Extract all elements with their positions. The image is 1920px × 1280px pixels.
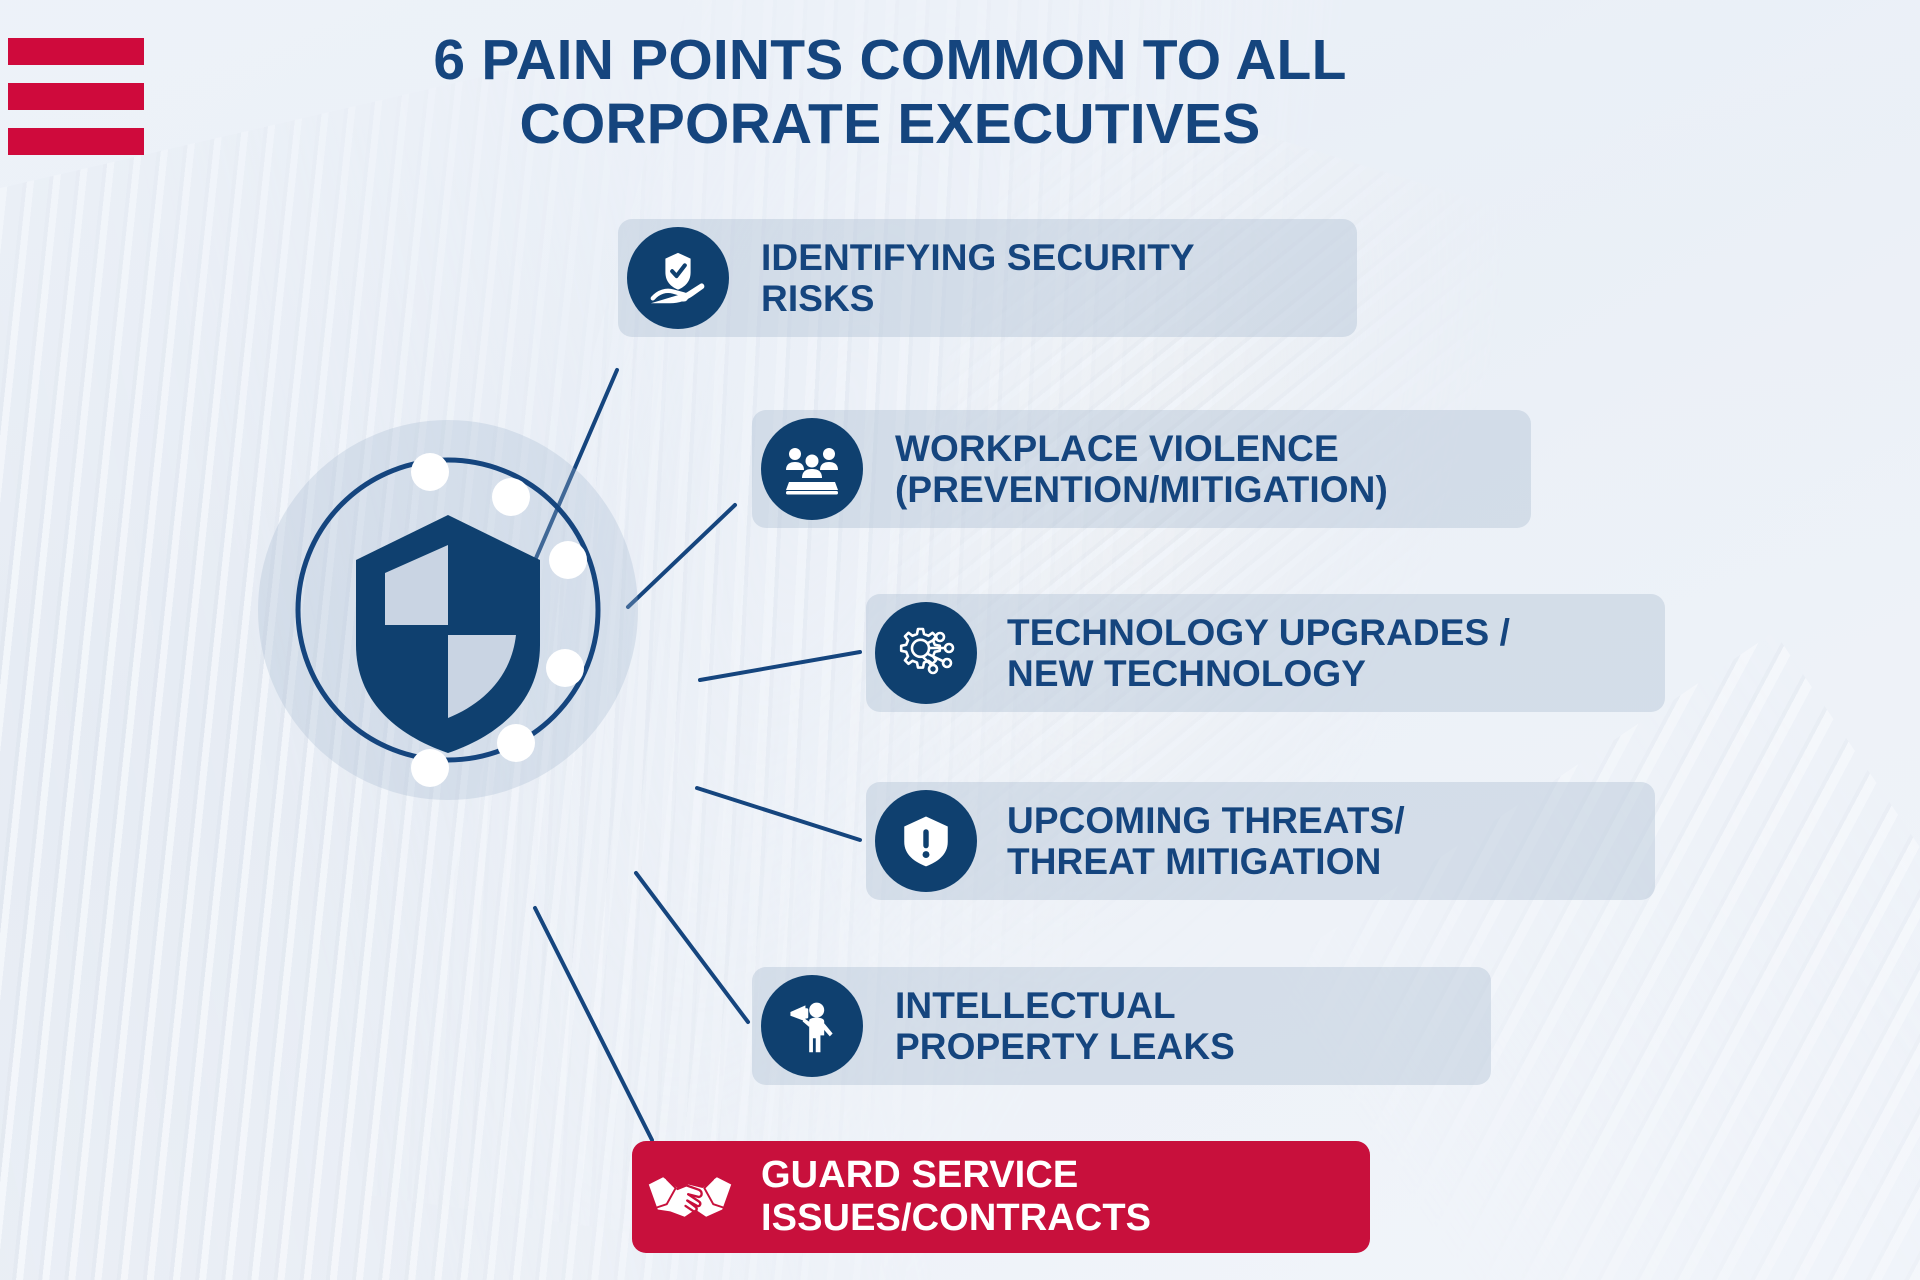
hub-node-5 bbox=[497, 724, 535, 762]
connector-line-2 bbox=[628, 505, 735, 607]
central-hub bbox=[258, 420, 638, 800]
pain-point-card-2[interactable]: WORKPLACE VIOLENCE (PREVENTION/MITIGATIO… bbox=[752, 410, 1531, 528]
gear-network-icon bbox=[875, 602, 977, 704]
hub-node-1 bbox=[411, 453, 449, 491]
pain-point-card-1[interactable]: IDENTIFYING SECURITY RISKS bbox=[618, 219, 1357, 337]
logo-mark bbox=[8, 38, 144, 155]
pain-point-card-6[interactable]: GUARD SERVICE ISSUES/CONTRACTS bbox=[632, 1141, 1370, 1253]
pain-point-card-3[interactable]: TECHNOLOGY UPGRADES / NEW TECHNOLOGY bbox=[866, 594, 1665, 712]
page-title-line-2: CORPORATE EXECUTIVES bbox=[300, 92, 1480, 156]
pain-point-label-5: INTELLECTUAL PROPERTY LEAKS bbox=[895, 985, 1235, 1068]
hand-holding-shield-check-icon bbox=[627, 227, 729, 329]
hub-node-6 bbox=[411, 749, 449, 787]
connector-line-5 bbox=[636, 873, 748, 1022]
hub-node-2 bbox=[492, 478, 530, 516]
pain-point-label-3: TECHNOLOGY UPGRADES / NEW TECHNOLOGY bbox=[1007, 612, 1510, 695]
shield-icon bbox=[356, 515, 540, 753]
infographic-canvas: 6 PAIN POINTS COMMON TO ALL CORPORATE EX… bbox=[0, 0, 1920, 1280]
hub-node-3 bbox=[549, 541, 587, 579]
hub-node-4 bbox=[546, 649, 584, 687]
page-title-line-1: 6 PAIN POINTS COMMON TO ALL bbox=[300, 28, 1480, 92]
connector-line-3 bbox=[700, 652, 860, 680]
workplace-people-meeting-icon bbox=[761, 418, 863, 520]
pain-point-label-6: GUARD SERVICE ISSUES/CONTRACTS bbox=[761, 1154, 1151, 1239]
connector-line-4 bbox=[697, 788, 860, 840]
page-title: 6 PAIN POINTS COMMON TO ALL CORPORATE EX… bbox=[300, 28, 1480, 157]
hub-graphic bbox=[258, 420, 638, 800]
pain-point-label-1: IDENTIFYING SECURITY RISKS bbox=[761, 237, 1195, 320]
logo-bar-1 bbox=[8, 38, 144, 65]
person-megaphone-icon bbox=[761, 975, 863, 1077]
logo-bar-3 bbox=[8, 128, 144, 155]
logo-bar-2 bbox=[8, 83, 144, 110]
pain-point-card-5[interactable]: INTELLECTUAL PROPERTY LEAKS bbox=[752, 967, 1491, 1085]
connector-line-6 bbox=[535, 908, 652, 1140]
handshake-icon bbox=[639, 1146, 741, 1248]
pain-point-card-4[interactable]: UPCOMING THREATS/ THREAT MITIGATION bbox=[866, 782, 1655, 900]
shield-exclamation-icon bbox=[875, 790, 977, 892]
pain-point-label-2: WORKPLACE VIOLENCE (PREVENTION/MITIGATIO… bbox=[895, 428, 1388, 511]
pain-point-label-4: UPCOMING THREATS/ THREAT MITIGATION bbox=[1007, 800, 1405, 883]
